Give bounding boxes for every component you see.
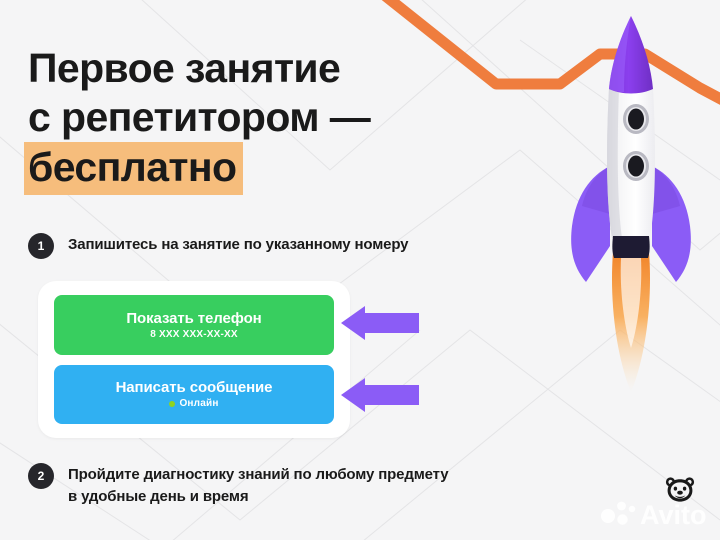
rocket-fin-right bbox=[652, 166, 691, 282]
show-phone-number: 8 XXX XXX-XX-XX bbox=[150, 329, 237, 340]
headline-highlight: бесплатно bbox=[24, 142, 243, 195]
rocket-nose-cone bbox=[609, 16, 653, 94]
headline-line-2: с репетитором — bbox=[28, 93, 498, 142]
rocket-porthole-upper bbox=[623, 104, 649, 134]
rocket-flame bbox=[612, 241, 650, 392]
step-2-badge: 2 bbox=[28, 463, 54, 489]
bear-head-icon bbox=[664, 476, 696, 504]
show-phone-button[interactable]: Показать телефон 8 XXX XXX-XX-XX bbox=[54, 295, 334, 355]
rocket-illustration bbox=[556, 0, 720, 396]
avito-watermark-text: Avito bbox=[640, 500, 707, 529]
avito-watermark: Avito bbox=[600, 495, 712, 529]
headline: Первое занятие с репетитором — бесплатно bbox=[28, 44, 498, 195]
step-1: 1 Запишитесь на занятие по указанному но… bbox=[28, 232, 408, 259]
write-message-label: Написать сообщение bbox=[116, 379, 273, 396]
step-2: 2 Пройдите диагностику знаний по любому … bbox=[28, 462, 448, 508]
headline-line-3: бесплатно bbox=[28, 142, 498, 195]
step-1-text: Запишитесь на занятие по указанному номе… bbox=[68, 232, 408, 256]
rocket-nozzle bbox=[612, 236, 649, 258]
online-dot-icon bbox=[169, 401, 175, 407]
rocket-fin-left bbox=[571, 166, 610, 282]
headline-line-1: Первое занятие bbox=[28, 44, 498, 93]
arrow-left-icon-2 bbox=[341, 378, 419, 412]
promo-banner: Первое занятие с репетитором — бесплатно… bbox=[0, 0, 720, 540]
step-2-text: Пройдите диагностику знаний по любому пр… bbox=[68, 462, 448, 508]
rocket-porthole-lower bbox=[623, 151, 649, 181]
online-status: Онлайн bbox=[169, 398, 218, 409]
contact-card: Показать телефон 8 XXX XXX-XX-XX Написат… bbox=[38, 281, 350, 438]
step-1-badge: 1 bbox=[28, 233, 54, 259]
online-status-label: Онлайн bbox=[179, 398, 218, 409]
write-message-button[interactable]: Написать сообщение Онлайн bbox=[54, 365, 334, 425]
arrow-left-icon-1 bbox=[341, 306, 419, 340]
rocket-body bbox=[607, 88, 655, 238]
show-phone-label: Показать телефон bbox=[126, 310, 261, 327]
